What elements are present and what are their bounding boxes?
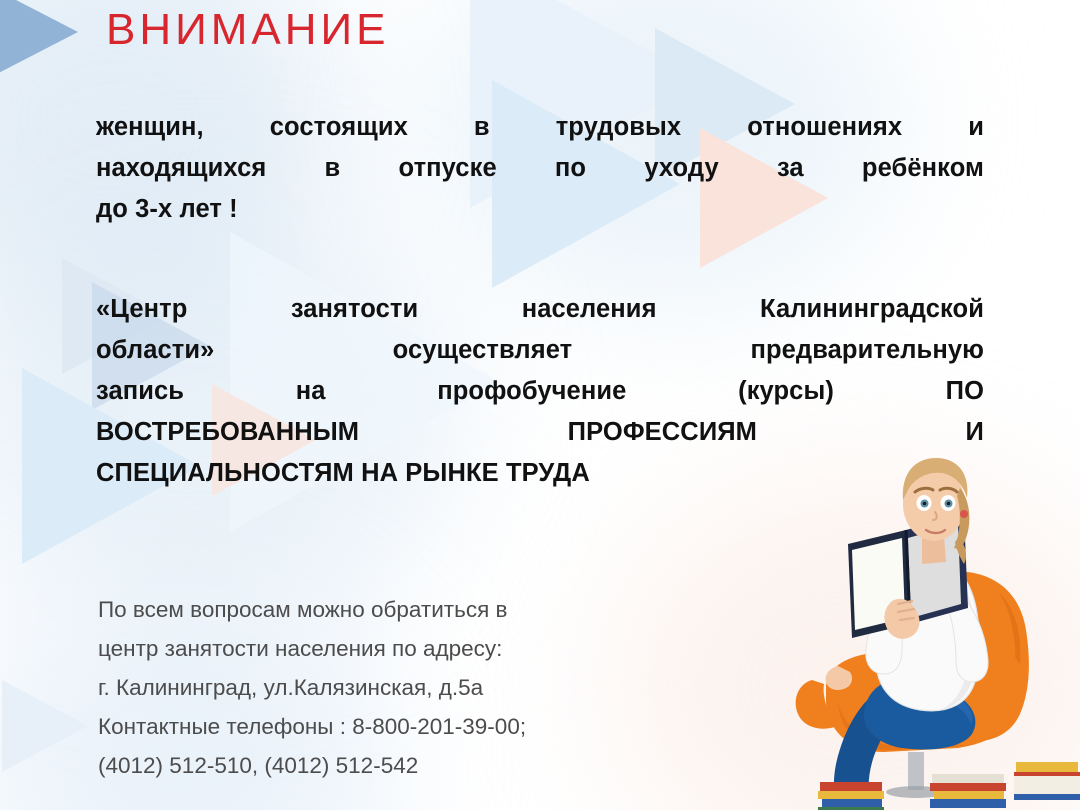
paragraph-line: женщин, состоящих в трудовых отношениях …	[96, 107, 984, 148]
contact-information-block: По всем вопросам можно обратиться в цент…	[98, 590, 738, 785]
paragraph-line: запись на профобучение (курсы) ПО	[96, 371, 984, 412]
chair-pedestal	[908, 752, 924, 790]
paragraph-target-audience: женщин, состоящих в трудовых отношениях …	[96, 107, 984, 230]
paragraph-line: «Центр занятости населения Калининградск…	[96, 289, 984, 330]
illustration-woman-reading	[752, 452, 1080, 810]
poster-content: ВНИМАНИЕ женщин, состоящих в трудовых от…	[0, 0, 1080, 810]
paragraph-line: находящихся в отпуске по уходу за ребёнк…	[96, 148, 984, 189]
contact-address: г. Калининград, ул.Калязинская, д.5а	[98, 668, 738, 707]
page-title: ВНИМАНИЕ	[106, 6, 390, 54]
book-stack-right	[1014, 762, 1080, 800]
paragraph-line: ВОСТРЕБОВАННЫМ ПРОФЕССИЯМ И	[96, 412, 984, 453]
book-stack-left	[818, 782, 884, 810]
contact-phone-primary: Контактные телефоны : 8-800-201-39-00;	[98, 707, 738, 746]
contact-line: центр занятости населения по адресу:	[98, 629, 738, 668]
earring	[960, 510, 968, 518]
poster-canvas: ВНИМАНИЕ женщин, состоящих в трудовых от…	[0, 0, 1080, 810]
paragraph-line: области» осуществляет предварительную	[96, 330, 984, 371]
paragraph-line: до 3-х лет !	[96, 189, 984, 230]
book-stack-center	[930, 774, 1006, 808]
contact-line: По всем вопросам можно обратиться в	[98, 590, 738, 629]
contact-phone-secondary: (4012) 512-510, (4012) 512-542	[98, 746, 738, 785]
